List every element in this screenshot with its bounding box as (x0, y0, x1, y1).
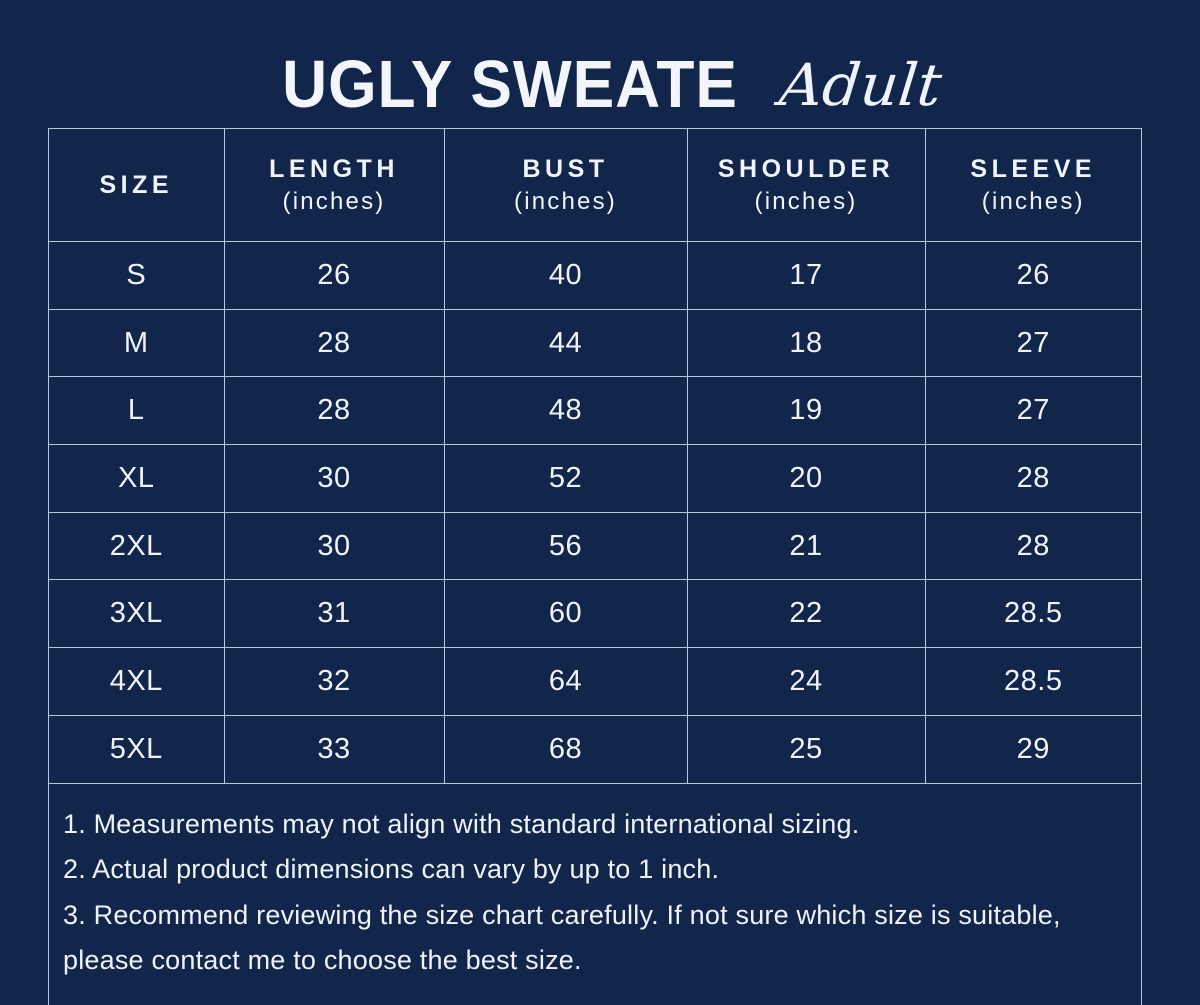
cell-bust: 60 (444, 580, 687, 648)
cell-sleeve: 28 (925, 512, 1141, 580)
cell-shoulder: 22 (687, 580, 925, 648)
size-chart-page: UGLY SWEATE Adult SIZE LENGTH (inches) (0, 0, 1200, 1005)
note-item: 2. Actual product dimensions can vary by… (63, 847, 1119, 892)
cell-bust: 48 (444, 377, 687, 445)
cell-shoulder: 19 (687, 377, 925, 445)
cell-shoulder: 17 (687, 242, 925, 310)
cell-bust: 64 (444, 648, 687, 716)
cell-size: 2XL (49, 512, 224, 580)
cell-sleeve: 28.5 (925, 580, 1141, 648)
column-header-shoulder-label: SHOULDER (718, 155, 894, 183)
cell-bust: 56 (444, 512, 687, 580)
column-header-bust: BUST (inches) (444, 129, 687, 242)
cell-length: 30 (224, 445, 444, 513)
cell-shoulder: 20 (687, 445, 925, 513)
table-row: XL 30 52 20 28 (49, 445, 1141, 513)
title-main-text: UGLY SWEATE (282, 51, 738, 118)
column-header-sleeve-unit: (inches) (926, 186, 1142, 218)
column-header-length-label: LENGTH (269, 155, 399, 183)
cell-size: M (49, 309, 224, 377)
column-header-bust-unit: (inches) (445, 186, 687, 218)
cell-size: XL (49, 445, 224, 513)
note-item: 1. Measurements may not align with stand… (63, 802, 1119, 847)
cell-sleeve: 28 (925, 445, 1141, 513)
cell-size: L (49, 377, 224, 445)
cell-sleeve: 26 (925, 242, 1141, 310)
table-row: M 28 44 18 27 (49, 309, 1141, 377)
column-header-sleeve: SLEEVE (inches) (925, 129, 1141, 242)
column-header-size-label: SIZE (99, 171, 173, 199)
column-header-bust-label: BUST (522, 155, 608, 183)
cell-shoulder: 18 (687, 309, 925, 377)
cell-sleeve: 28.5 (925, 648, 1141, 716)
column-header-sleeve-label: SLEEVE (970, 155, 1096, 183)
column-header-length-unit: (inches) (225, 186, 444, 218)
table-row: L 28 48 19 27 (49, 377, 1141, 445)
note-item: 3. Recommend reviewing the size chart ca… (63, 893, 1119, 984)
table-body: S 26 40 17 26 M 28 44 18 27 L 28 48 (49, 242, 1141, 784)
size-table: SIZE LENGTH (inches) BUST (inches) SHOUL… (49, 129, 1141, 784)
table-row: S 26 40 17 26 (49, 242, 1141, 310)
cell-sleeve: 27 (925, 377, 1141, 445)
cell-sleeve: 27 (925, 309, 1141, 377)
column-header-size: SIZE (49, 129, 224, 242)
cell-shoulder: 24 (687, 648, 925, 716)
table-row: 4XL 32 64 24 28.5 (49, 648, 1141, 716)
cell-size: 4XL (49, 648, 224, 716)
header-row: SIZE LENGTH (inches) BUST (inches) SHOUL… (49, 129, 1141, 242)
cell-length: 28 (224, 377, 444, 445)
title-script-text: Adult (777, 56, 944, 114)
cell-bust: 52 (444, 445, 687, 513)
table-header: SIZE LENGTH (inches) BUST (inches) SHOUL… (49, 129, 1141, 242)
cell-length: 26 (224, 242, 444, 310)
chart-title: UGLY SWEATE Adult (0, 18, 1200, 118)
table-row: 3XL 31 60 22 28.5 (49, 580, 1141, 648)
cell-bust: 44 (444, 309, 687, 377)
column-header-length: LENGTH (inches) (224, 129, 444, 242)
cell-size: 3XL (49, 580, 224, 648)
column-header-shoulder-unit: (inches) (688, 186, 925, 218)
cell-length: 30 (224, 512, 444, 580)
cell-length: 32 (224, 648, 444, 716)
notes-section: 1. Measurements may not align with stand… (48, 772, 1142, 1005)
size-table-wrapper: SIZE LENGTH (inches) BUST (inches) SHOUL… (48, 128, 1142, 784)
cell-length: 31 (224, 580, 444, 648)
cell-shoulder: 21 (687, 512, 925, 580)
cell-size: S (49, 242, 224, 310)
column-header-shoulder: SHOULDER (inches) (687, 129, 925, 242)
table-row: 2XL 30 56 21 28 (49, 512, 1141, 580)
cell-bust: 40 (444, 242, 687, 310)
cell-length: 28 (224, 309, 444, 377)
